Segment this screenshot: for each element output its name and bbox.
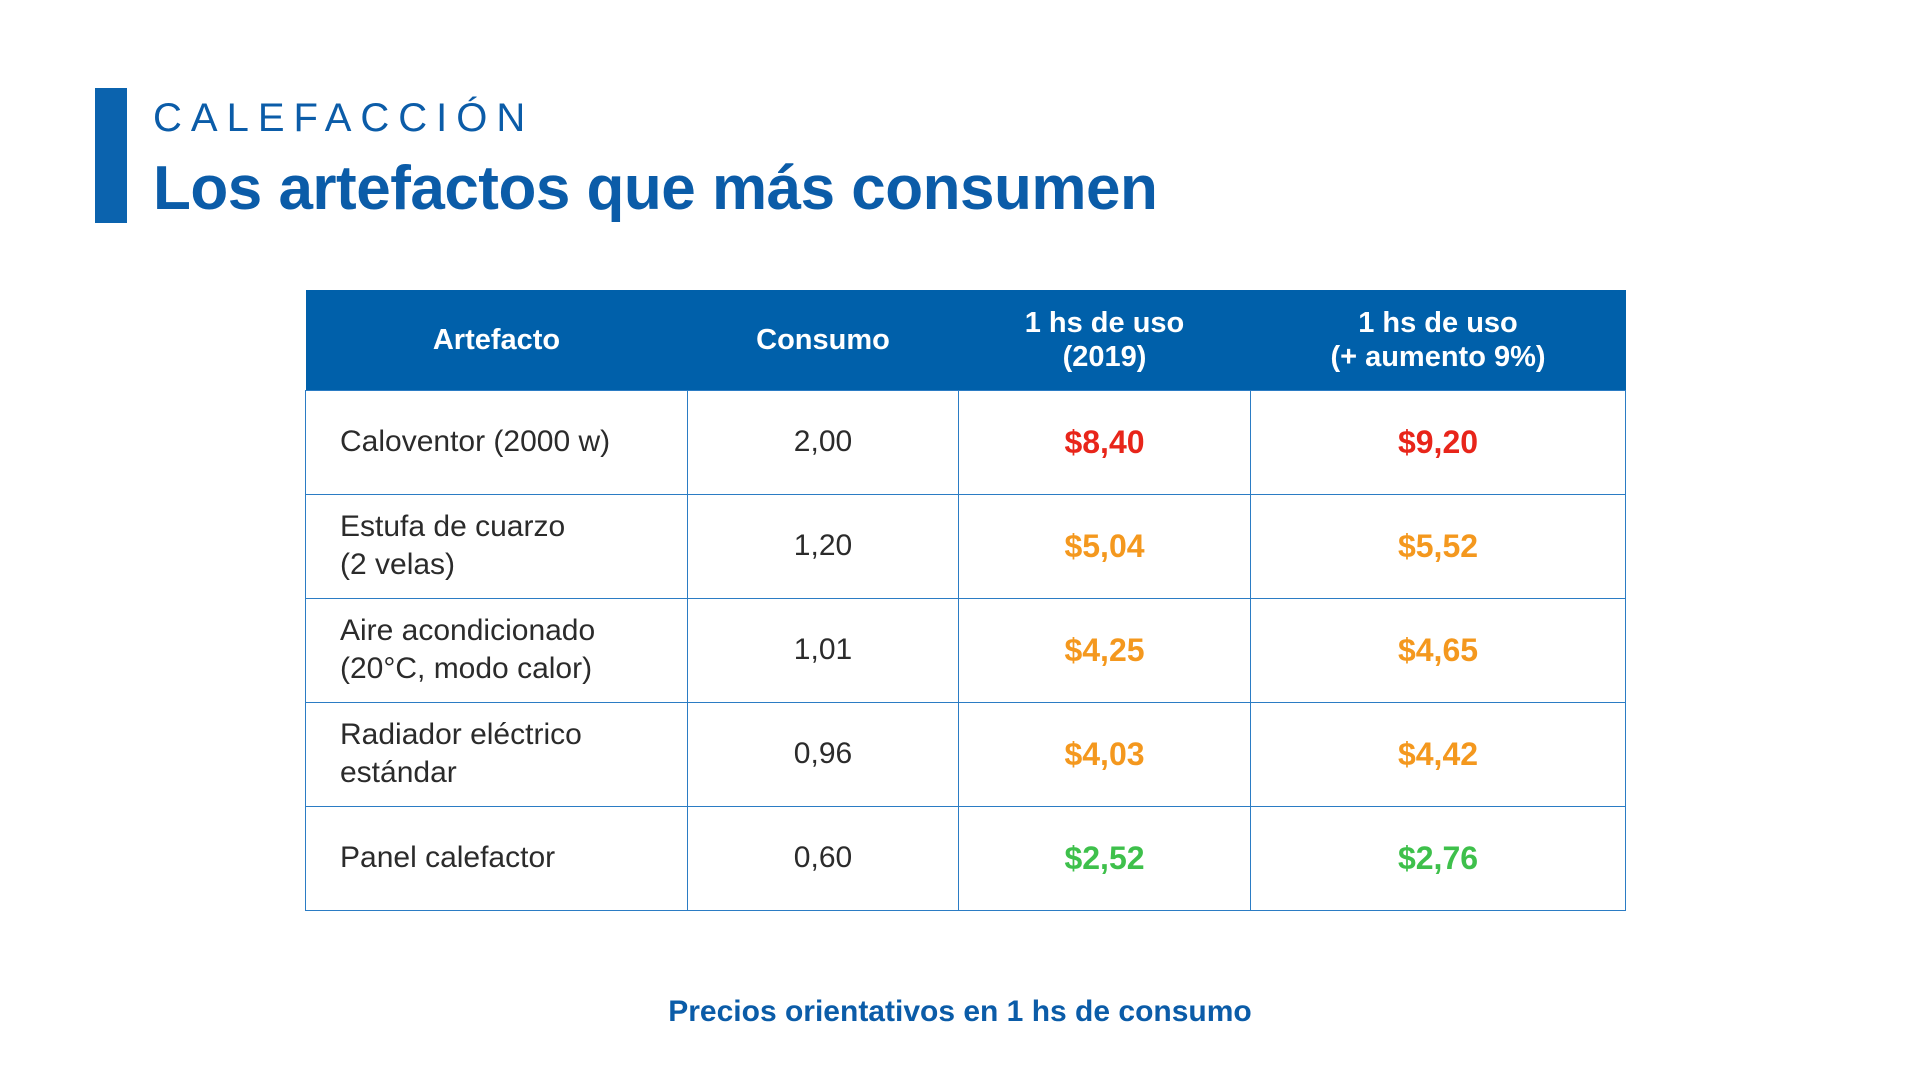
cell-consumo: 0,60 xyxy=(688,806,959,910)
artefacto-line1: Aire acondicionado xyxy=(340,612,687,650)
cell-artefacto: Estufa de cuarzo (2 velas) xyxy=(306,494,688,598)
table-row: Radiador eléctrico estándar 0,96 $4,03 $… xyxy=(306,702,1626,806)
cell-consumo: 1,01 xyxy=(688,598,959,702)
artefacto-line2: (20°C, modo calor) xyxy=(340,650,687,688)
artefacto-line1: Panel calefactor xyxy=(340,839,687,877)
artefacto-line2: estándar xyxy=(340,754,687,792)
column-header-uso-2019-line2: (2019) xyxy=(967,340,1243,374)
cell-uso-2019: $4,25 xyxy=(959,598,1251,702)
cell-artefacto: Aire acondicionado (20°C, modo calor) xyxy=(306,598,688,702)
column-header-uso-2019-line1: 1 hs de uso xyxy=(967,306,1243,340)
column-header-uso-aumento-line1: 1 hs de uso xyxy=(1259,306,1618,340)
column-header-uso-aumento: 1 hs de uso (+ aumento 9%) xyxy=(1251,290,1626,390)
column-header-uso-aumento-line2: (+ aumento 9%) xyxy=(1259,340,1618,374)
cell-uso-aumento: $4,65 xyxy=(1251,598,1626,702)
cell-consumo: 0,96 xyxy=(688,702,959,806)
cell-consumo: 1,20 xyxy=(688,494,959,598)
table-body: Caloventor (2000 w) 2,00 $8,40 $9,20 Est… xyxy=(306,390,1626,910)
table-row: Panel calefactor 0,60 $2,52 $2,76 xyxy=(306,806,1626,910)
table-row: Estufa de cuarzo (2 velas) 1,20 $5,04 $5… xyxy=(306,494,1626,598)
table-row: Aire acondicionado (20°C, modo calor) 1,… xyxy=(306,598,1626,702)
consumption-table-wrapper: Artefacto Consumo 1 hs de uso (2019) 1 h… xyxy=(305,290,1625,911)
artefacto-line2: (2 velas) xyxy=(340,546,687,584)
table-row: Caloventor (2000 w) 2,00 $8,40 $9,20 xyxy=(306,390,1626,494)
column-header-uso-2019: 1 hs de uso (2019) xyxy=(959,290,1251,390)
column-header-artefacto: Artefacto xyxy=(306,290,688,390)
artefacto-line1: Radiador eléctrico xyxy=(340,716,687,754)
infographic-page: CALEFACCIÓN Los artefactos que más consu… xyxy=(0,0,1920,1080)
kicker-label: CALEFACCIÓN xyxy=(153,88,1157,138)
table-header: Artefacto Consumo 1 hs de uso (2019) 1 h… xyxy=(306,290,1626,390)
column-header-consumo-line1: Consumo xyxy=(696,323,951,357)
artefacto-line1: Estufa de cuarzo xyxy=(340,508,687,546)
cell-artefacto: Caloventor (2000 w) xyxy=(306,390,688,494)
cell-uso-aumento: $5,52 xyxy=(1251,494,1626,598)
accent-bar xyxy=(95,88,127,223)
cell-artefacto: Radiador eléctrico estándar xyxy=(306,702,688,806)
cell-artefacto: Panel calefactor xyxy=(306,806,688,910)
cell-uso-2019: $8,40 xyxy=(959,390,1251,494)
cell-consumo: 2,00 xyxy=(688,390,959,494)
artefacto-line1: Caloventor (2000 w) xyxy=(340,423,687,461)
table-header-row: Artefacto Consumo 1 hs de uso (2019) 1 h… xyxy=(306,290,1626,390)
consumption-table: Artefacto Consumo 1 hs de uso (2019) 1 h… xyxy=(305,290,1626,911)
cell-uso-2019: $5,04 xyxy=(959,494,1251,598)
column-header-artefacto-line1: Artefacto xyxy=(314,323,680,357)
cell-uso-aumento: $2,76 xyxy=(1251,806,1626,910)
header-block: CALEFACCIÓN Los artefactos que más consu… xyxy=(95,88,1157,223)
cell-uso-2019: $4,03 xyxy=(959,702,1251,806)
page-title: Los artefactos que más consumen xyxy=(153,154,1157,223)
cell-uso-aumento: $4,42 xyxy=(1251,702,1626,806)
cell-uso-2019: $2,52 xyxy=(959,806,1251,910)
cell-uso-aumento: $9,20 xyxy=(1251,390,1626,494)
header-text: CALEFACCIÓN Los artefactos que más consu… xyxy=(153,88,1157,223)
footer-caption: Precios orientativos en 1 hs de consumo xyxy=(0,995,1920,1029)
column-header-consumo: Consumo xyxy=(688,290,959,390)
